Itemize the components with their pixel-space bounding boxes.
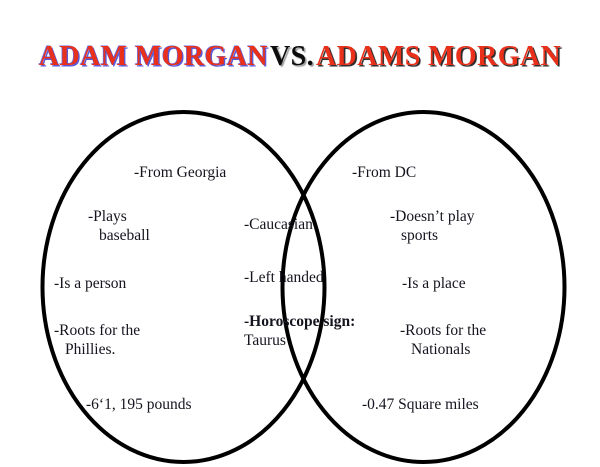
horoscope-label: -Horoscope sign: xyxy=(244,313,355,330)
intersection-item-1-text: -Left handed xyxy=(244,269,324,286)
left-item-2-text: -Is a person xyxy=(54,275,126,292)
right-item-0-text: -From DC xyxy=(352,164,416,181)
left-item-1: -Plays baseball xyxy=(88,188,150,264)
right-item-2-text: -Is a place xyxy=(402,275,466,292)
right-item-4: -0.47 Square miles xyxy=(362,376,479,414)
intersection-item-0-text: -Caucasian xyxy=(244,216,313,233)
right-item-0: -From DC xyxy=(352,144,416,182)
left-item-3: -Roots for the Phillies. xyxy=(54,302,140,378)
right-item-1: -Doesn’t play sports xyxy=(390,188,475,264)
left-item-1-text: -Plays xyxy=(88,208,127,225)
right-item-3: -Roots for the Nationals xyxy=(400,302,486,378)
intersection-item-0: -Caucasian xyxy=(244,196,313,234)
right-item-3-text: -Roots for the xyxy=(400,322,486,339)
left-item-4: -6‘1, 195 pounds xyxy=(86,376,191,414)
right-item-1-text: -Doesn’t play xyxy=(390,208,475,225)
intersection-item-1: -Left handed xyxy=(244,249,324,287)
left-item-0-text: -From Georgia xyxy=(134,164,226,181)
right-item-1-cont: sports xyxy=(390,226,475,245)
venn-diagram: -From Georgia -Plays baseball -Is a pers… xyxy=(0,0,600,467)
left-item-0: -From Georgia xyxy=(134,144,226,182)
right-item-4-text: -0.47 Square miles xyxy=(362,396,479,413)
left-item-2: -Is a person xyxy=(54,255,126,293)
left-item-4-text: -6‘1, 195 pounds xyxy=(86,396,191,413)
right-item-2: -Is a place xyxy=(402,255,466,293)
left-item-1-cont: baseball xyxy=(88,226,150,245)
horoscope-value: Taurus xyxy=(244,332,286,349)
right-item-3-cont: Nationals xyxy=(400,340,486,359)
left-item-3-cont: Phillies. xyxy=(54,340,140,359)
left-item-3-text: -Roots for the xyxy=(54,322,140,339)
intersection-item-horoscope: -Horoscope sign: Taurus xyxy=(244,293,366,350)
